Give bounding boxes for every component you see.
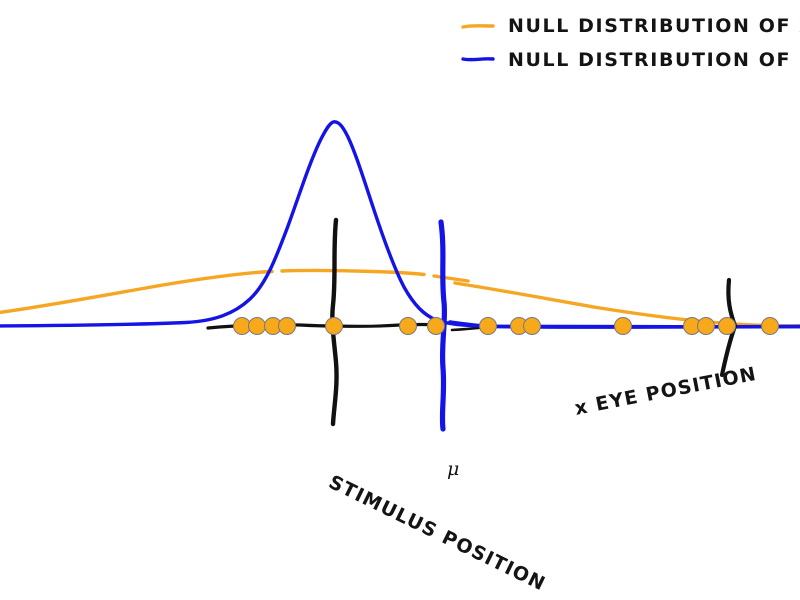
observation-dot [234,318,251,335]
null-distribution-t-curve [0,122,800,327]
legend-swatch-orange [463,26,493,27]
observation-dot [698,318,715,335]
observation-dot [615,318,632,335]
observation-dot [524,318,541,335]
observation-dot [428,318,445,335]
mu-label: μ [447,458,459,480]
observation-dot [480,318,497,335]
legend-item-null-distribution-x: NULL DISTRIBUTION OF x [508,15,800,37]
observation-dot [279,318,296,335]
eye-position-var-x: x [573,396,590,420]
figure-canvas: NULL DISTRIBUTION OF x NULL DISTRIBUTION… [0,0,800,600]
observation-dot [400,318,417,335]
legend-item-null-distribution-t: NULL DISTRIBUTION OF t [508,47,800,71]
legend-swatch-blue [463,59,493,60]
legend-label-t-text: NULL DISTRIBUTION OF [508,49,799,71]
legend-swatches [463,26,493,60]
observation-dot [719,318,736,335]
observation-dot [762,318,779,335]
legend-label-x-text: NULL DISTRIBUTION OF [508,15,799,37]
observation-dot [326,318,343,335]
observation-dot [249,318,266,335]
